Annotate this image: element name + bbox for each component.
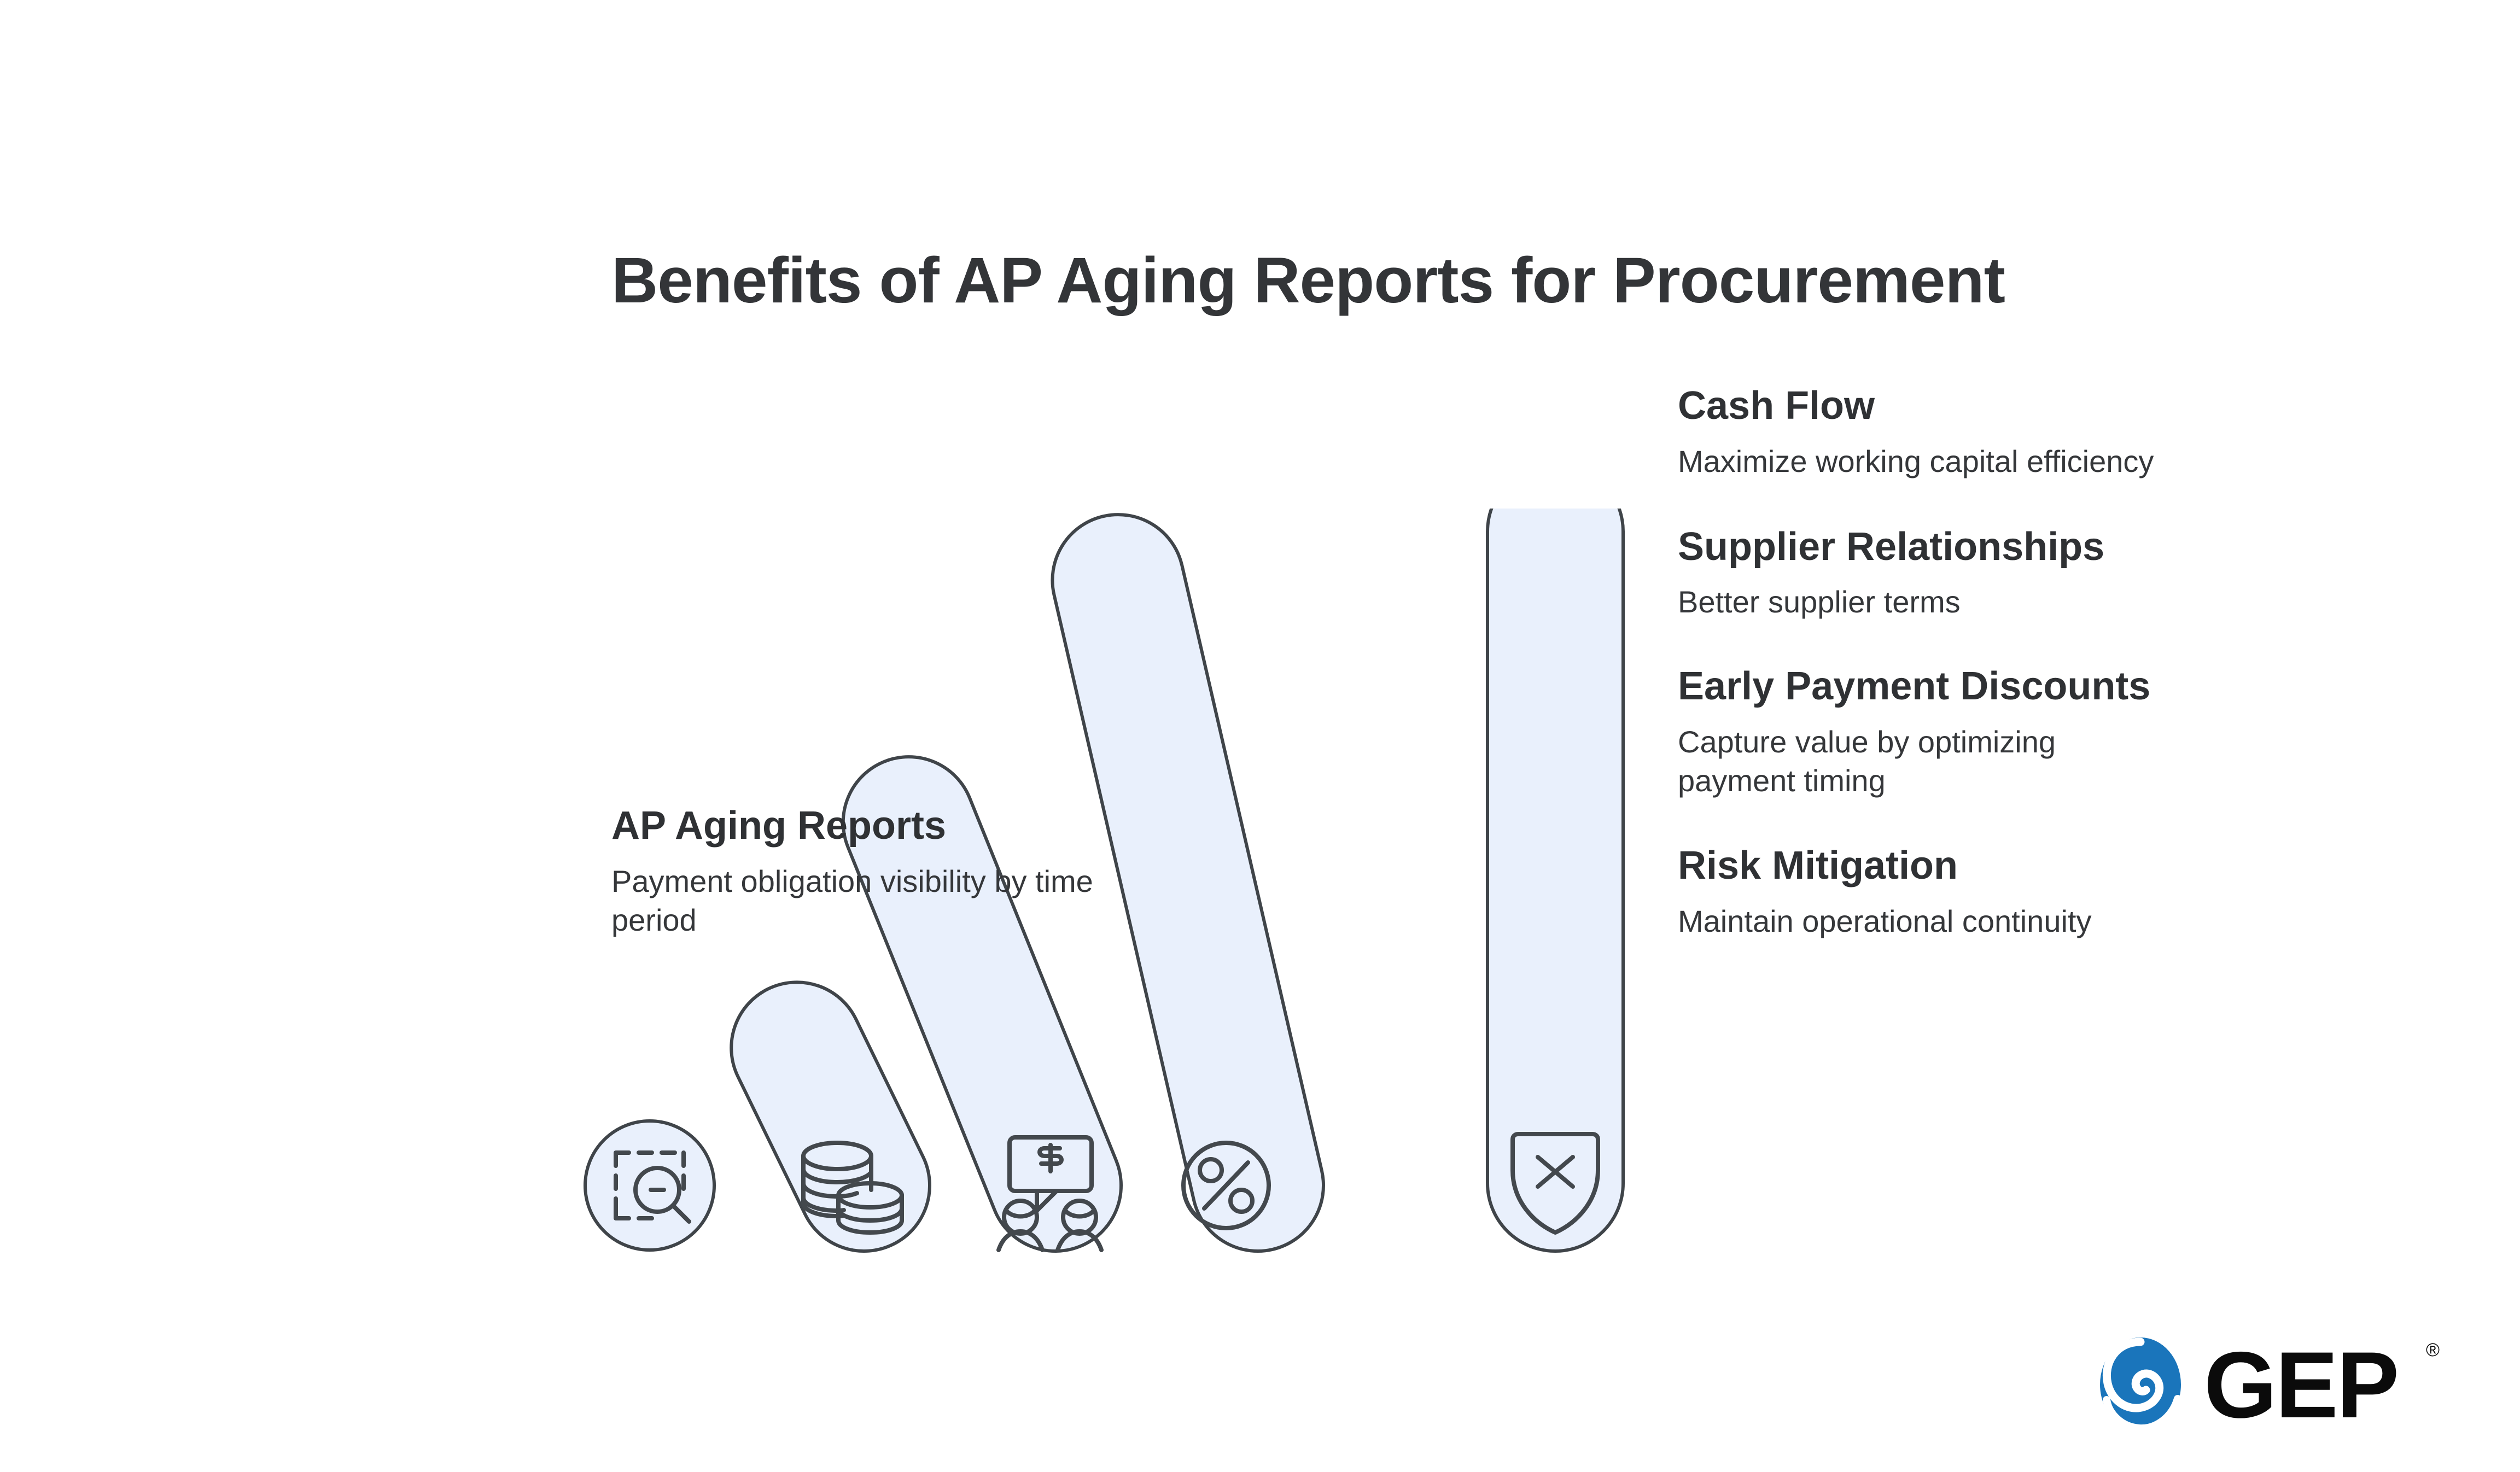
callout-early-payment-discounts: Early Payment Discounts Capture value by… [1678,663,2181,800]
gep-logo-svg: GEP ® [2096,1330,2446,1439]
bar-ap-aging-reports[interactable] [585,1121,714,1250]
slide-canvas: Benefits of AP Aging Reports for Procure… [0,0,2520,1472]
callout-title: Supplier Relationships [1678,524,2181,570]
callout-title: AP Aging Reports [611,803,1104,849]
bar-risk-mitigation[interactable] [1487,509,1623,1251]
callout-description: Payment obligation visibility by time pe… [611,849,1104,939]
bar-shape-circle [585,1121,714,1250]
callout-risk-mitigation: Risk Mitigation Maintain operational con… [1678,843,2181,941]
callout-description: Maximize working capital efficiency [1678,429,2181,481]
bar-shape-capsule [1487,509,1623,1251]
callout-cash-flow: Cash Flow Maximize working capital effic… [1678,383,2181,481]
callout-description: Capture value by optimizing payment timi… [1678,710,2181,800]
gep-wordmark: GEP [2204,1333,2397,1438]
callout-title: Cash Flow [1678,383,2181,429]
benefits-list: Cash Flow Maximize working capital effic… [1678,383,2181,941]
registered-trademark-icon: ® [2426,1340,2440,1360]
callout-title: Early Payment Discounts [1678,663,2181,710]
gep-logo: GEP ® [2096,1330,2446,1439]
callout-title: Risk Mitigation [1678,843,2181,889]
callout-supplier-relationships: Supplier Relationships Better supplier t… [1678,524,2181,622]
callout-description: Maintain operational continuity [1678,889,2181,941]
page-title: Benefits of AP Aging Reports for Procure… [611,247,2005,315]
gep-swirl-icon [2100,1337,2181,1432]
callout-ap-aging-reports: AP Aging Reports Payment obligation visi… [611,803,1104,939]
callout-description: Better supplier terms [1678,570,2181,622]
